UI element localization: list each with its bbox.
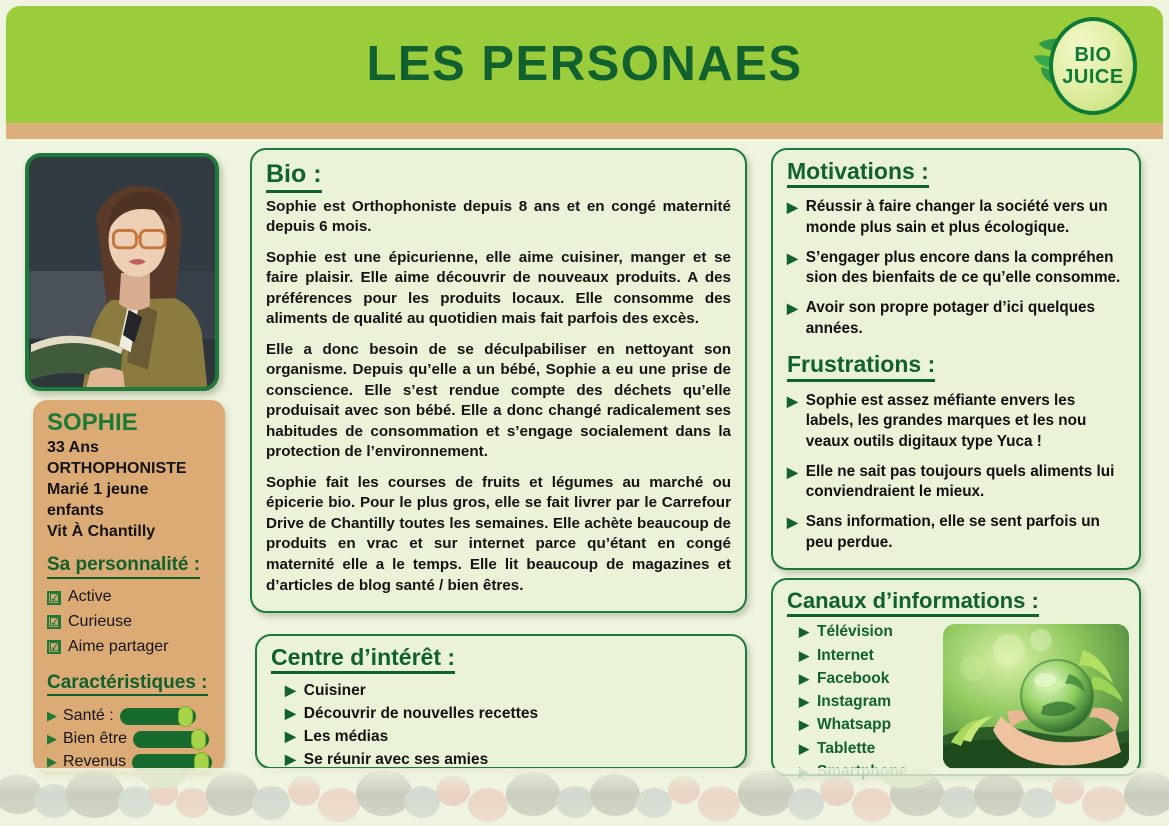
carac-slider-bien-etre[interactable]: [133, 731, 209, 748]
checkbox-icon[interactable]: ☑: [47, 591, 61, 605]
slider-knob[interactable]: [178, 706, 193, 727]
frustration-label: Elle ne sait pas toujours quels aliments…: [806, 462, 1125, 503]
triangle-bullet-icon: ▶: [799, 646, 809, 666]
personality-label: Aime partager: [68, 635, 169, 660]
list-item: ▶ Santé :: [47, 707, 213, 725]
interet-label: Les médias: [304, 726, 388, 748]
persona-details: 33 Ans ORTHOPHONISTE Marié 1 jeune enfan…: [47, 438, 213, 542]
triangle-bullet-icon: ▶: [799, 622, 809, 642]
list-item: ☑ Curieuse: [47, 610, 213, 635]
bio-paragraph: Sophie fait les courses de fruits et lég…: [266, 473, 731, 596]
motivations-frustrations-card: Motivations : ▶ Réussir à faire changer …: [771, 148, 1141, 570]
triangle-bullet-icon: ▶: [285, 680, 296, 702]
frustration-label: Sophie est assez méfiante envers les lab…: [806, 391, 1125, 453]
caracteristiques-list: ▶ Santé : ▶ Bien être ▶ Revenus: [47, 707, 213, 771]
personality-label: Curieuse: [68, 610, 132, 635]
canal-label: Internet: [817, 644, 874, 667]
canaux-informations-card: Canaux d’informations : ▶ Télévision ▶ I…: [771, 578, 1141, 776]
logo-text-bio: BIO: [1074, 45, 1111, 65]
carac-slider-sante[interactable]: [120, 708, 196, 725]
logo-text-juice: JUICE: [1062, 67, 1123, 87]
bio-juice-logo: BIO JUICE: [1035, 14, 1139, 118]
triangle-bullet-icon: ▶: [285, 703, 296, 725]
triangle-bullet-icon: ▶: [799, 669, 809, 689]
persona-infographic: LES PERSONAES BIO JUICE: [0, 0, 1169, 826]
list-item: ▶ Avoir son propre potager d’ici quelque…: [787, 298, 1125, 339]
canal-label: Facebook: [817, 667, 889, 690]
slider-knob[interactable]: [191, 729, 206, 750]
list-item: ▶ Elle ne sait pas toujours quels alimen…: [787, 462, 1125, 503]
interet-label: Cuisiner: [304, 680, 366, 702]
persona-photo: [25, 153, 219, 391]
list-item: ▶ Bien être: [47, 730, 213, 748]
triangle-bullet-icon: ▶: [285, 749, 296, 771]
bio-title: Bio :: [266, 160, 322, 193]
list-item: ☑ Aime partager: [47, 635, 213, 660]
list-item: ▶ Cuisiner: [285, 680, 731, 702]
persona-family-line2: enfants: [47, 501, 213, 522]
triangle-bullet-icon: ▶: [787, 462, 798, 503]
list-item: ▶ Sophie est assez méfiante envers les l…: [787, 391, 1125, 453]
triangle-bullet-icon: ▶: [787, 391, 798, 453]
triangle-bullet-icon: ▶: [787, 197, 798, 238]
carac-label: Bien être: [63, 730, 127, 748]
persona-name: SOPHIE: [47, 410, 213, 436]
list-item: ▶ Les médias: [285, 726, 731, 748]
motivation-label: S’engager plus encore dans la compréhen …: [806, 248, 1125, 289]
persona-location: Vit À Chantilly: [47, 522, 213, 543]
triangle-bullet-icon: ▶: [787, 248, 798, 289]
persona-info-card: SOPHIE 33 Ans ORTHOPHONISTE Marié 1 jeun…: [33, 400, 225, 775]
persona-age: 33 Ans: [47, 438, 213, 459]
canal-label: Instagram: [817, 690, 891, 713]
canaux-title: Canaux d’informations :: [787, 588, 1039, 617]
carac-label: Santé :: [63, 707, 114, 725]
list-item: ☑ Active: [47, 585, 213, 610]
centre-interet-title: Centre d’intérêt :: [271, 644, 455, 674]
canal-label: Whatsapp: [817, 713, 891, 736]
personality-label: Active: [68, 585, 112, 610]
triangle-bullet-icon: ▶: [799, 715, 809, 735]
triangle-bullet-icon: ▶: [47, 708, 57, 724]
triangle-bullet-icon: ▶: [285, 726, 296, 748]
interet-label: Se réunir avec ses amies: [304, 749, 488, 771]
bio-paragraph: Sophie est une épicurienne, elle aime cu…: [266, 248, 731, 330]
personality-title: Sa personnalité :: [47, 554, 200, 579]
list-item: ▶ Se réunir avec ses amies: [285, 749, 731, 771]
caracteristiques-title: Caractéristiques :: [47, 672, 208, 697]
motivation-label: Avoir son propre potager d’ici quelques …: [806, 298, 1125, 339]
frustration-label: Sans information, elle se sent parfois u…: [806, 512, 1125, 553]
triangle-bullet-icon: ▶: [799, 739, 809, 759]
page-title: LES PERSONAES: [6, 36, 1163, 92]
bio-paragraph: Sophie est Orthophoniste depuis 8 ans et…: [266, 197, 731, 238]
canal-label: Tablette: [817, 737, 875, 760]
list-item: ▶ Découvrir de nouvelles recettes: [285, 703, 731, 725]
canal-label: Télévision: [817, 620, 893, 643]
berries-overlay: [0, 768, 1169, 826]
frustrations-title: Frustrations :: [787, 351, 935, 381]
personality-list: ☑ Active ☑ Curieuse ☑ Aime partager: [47, 585, 213, 659]
triangle-bullet-icon: ▶: [47, 731, 57, 747]
triangle-bullet-icon: ▶: [787, 512, 798, 553]
globe-nature-photo: [943, 624, 1129, 769]
header-divider-strip: [6, 123, 1163, 139]
list-item: ▶ S’engager plus encore dans la compréhe…: [787, 248, 1125, 289]
list-item: ▶ Réussir à faire changer la société ver…: [787, 197, 1125, 238]
motivations-title: Motivations :: [787, 158, 929, 188]
persona-family-line1: Marié 1 jeune: [47, 480, 213, 501]
centre-interet-card: Centre d’intérêt : ▶ Cuisiner ▶ Découvri…: [255, 634, 747, 769]
motivation-label: Réussir à faire changer la société vers …: [806, 197, 1125, 238]
bio-paragraph: Elle a donc besoin de se déculpabiliser …: [266, 340, 731, 463]
interet-label: Découvrir de nouvelles recettes: [304, 703, 538, 725]
checkbox-icon[interactable]: ☑: [47, 615, 61, 629]
triangle-bullet-icon: ▶: [787, 298, 798, 339]
checkbox-icon[interactable]: ☑: [47, 640, 61, 654]
triangle-bullet-icon: ▶: [799, 692, 809, 712]
list-item: ▶ Sans information, elle se sent parfois…: [787, 512, 1125, 553]
bio-card: Bio : Sophie est Orthophoniste depuis 8 …: [250, 148, 747, 613]
header-band: LES PERSONAES BIO JUICE: [6, 6, 1163, 123]
persona-job: ORTHOPHONISTE: [47, 459, 213, 480]
